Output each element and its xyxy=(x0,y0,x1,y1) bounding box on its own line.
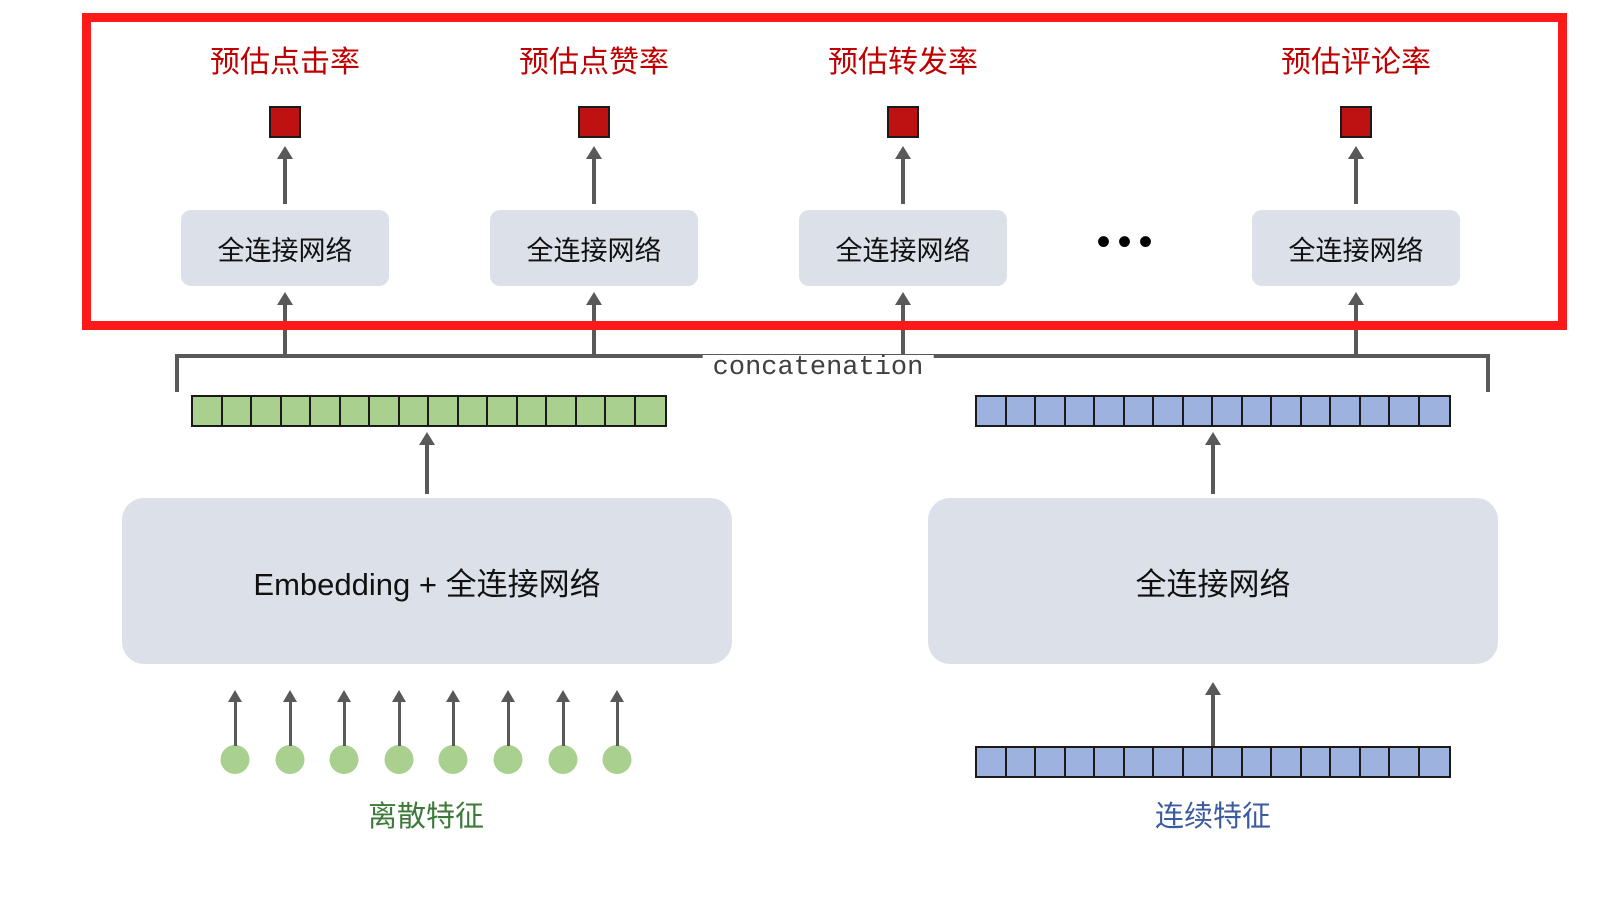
arrow-left-box-to-vector xyxy=(417,432,437,494)
vector-cell xyxy=(1184,748,1214,776)
arrow-continuous-input-to-box xyxy=(1203,682,1223,746)
ellipsis-more-heads: ••• xyxy=(1096,232,1159,252)
arrow-right-box-to-vector xyxy=(1203,432,1223,494)
vector-cell xyxy=(1095,748,1125,776)
fc-box-ctr: 全连接网络 xyxy=(181,210,389,286)
continuous-features-caption: 连续特征 xyxy=(1155,803,1271,832)
vector-cell xyxy=(1213,748,1243,776)
task-label-ctr: 预估点击率 xyxy=(210,48,360,78)
discrete-feature-node-3 xyxy=(330,745,359,774)
vector-cell xyxy=(1154,748,1184,776)
output-square-like xyxy=(578,106,610,138)
discrete-feature-node-6 xyxy=(494,745,523,774)
concatenation-label: concatenation xyxy=(703,355,934,382)
vector-cell xyxy=(1007,748,1037,776)
vector-cell xyxy=(1036,748,1066,776)
arrow-discrete-input-4 xyxy=(390,690,408,746)
arrow-discrete-input-5 xyxy=(444,690,462,746)
task-label-like: 预估点赞率 xyxy=(519,48,669,78)
task-label-comment: 预估评论率 xyxy=(1281,48,1431,78)
fc-box-like: 全连接网络 xyxy=(490,210,698,286)
vector-cell xyxy=(1066,748,1096,776)
fc-box-share: 全连接网络 xyxy=(799,210,1007,286)
output-square-share xyxy=(887,106,919,138)
output-square-ctr xyxy=(269,106,301,138)
discrete-feature-node-4 xyxy=(385,745,414,774)
arrow-discrete-input-2 xyxy=(281,690,299,746)
discrete-feature-node-2 xyxy=(276,745,305,774)
vector-cell xyxy=(1272,748,1302,776)
diagram-canvas: 预估点击率 全连接网络 预估点赞率 全连接网络 预估转发率 全连接网络 ••• … xyxy=(0,0,1599,899)
arrow-discrete-input-3 xyxy=(335,690,353,746)
task-label-share: 预估转发率 xyxy=(828,48,978,78)
arrow-discrete-input-6 xyxy=(499,690,517,746)
discrete-feature-node-1 xyxy=(221,745,250,774)
continuous-fc-box: 全连接网络 xyxy=(928,498,1498,664)
vector-cell xyxy=(1361,748,1391,776)
continuous-feature-vector xyxy=(975,746,1451,778)
vector-cell xyxy=(1420,748,1450,776)
discrete-features-caption: 离散特征 xyxy=(368,803,484,832)
output-square-comment xyxy=(1340,106,1372,138)
discrete-feature-node-8 xyxy=(603,745,632,774)
arrow-discrete-input-8 xyxy=(608,690,626,746)
arrow-discrete-input-1 xyxy=(226,690,244,746)
arrow-discrete-input-7 xyxy=(554,690,572,746)
vector-cell xyxy=(1302,748,1332,776)
fc-box-comment: 全连接网络 xyxy=(1252,210,1460,286)
vector-cell xyxy=(1243,748,1273,776)
vector-cell xyxy=(1125,748,1155,776)
discrete-feature-node-5 xyxy=(439,745,468,774)
vector-cell xyxy=(1390,748,1420,776)
discrete-feature-node-7 xyxy=(549,745,578,774)
vector-cell xyxy=(1331,748,1361,776)
embedding-fc-box: Embedding + 全连接网络 xyxy=(122,498,732,664)
vector-cell xyxy=(977,748,1007,776)
